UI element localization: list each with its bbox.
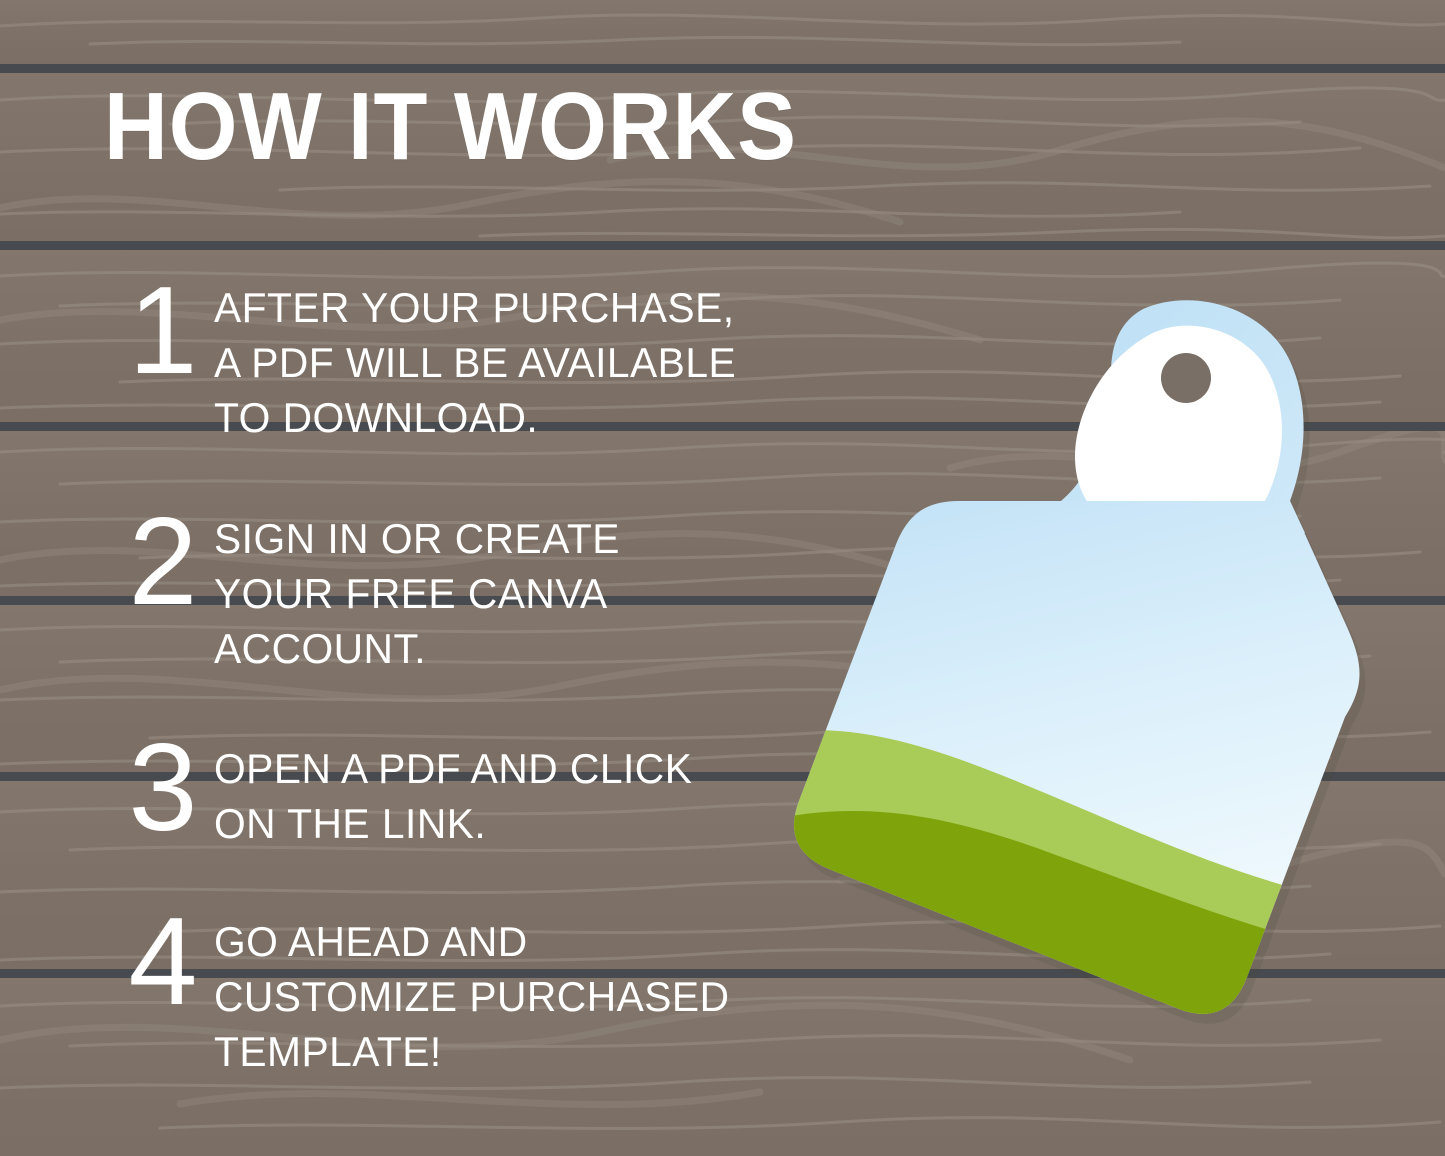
step-number-2: 2 — [110, 503, 214, 621]
step-text-4: GO AHEAD AND CUSTOMIZE PURCHASED TEMPLAT… — [214, 906, 730, 1079]
step-text-line: OPEN A PDF AND CLICK — [214, 741, 692, 796]
steps-list: 1 AFTER YOUR PURCHASE, A PDF WILL BE AVA… — [0, 0, 790, 1156]
step-text-1: AFTER YOUR PURCHASE, A PDF WILL BE AVAIL… — [214, 272, 736, 445]
step-text-line: ON THE LINK. — [214, 796, 692, 851]
step-text-line: GO AHEAD AND — [214, 914, 730, 969]
step-text-line: A PDF WILL BE AVAILABLE — [214, 335, 736, 390]
step-number-3: 3 — [110, 733, 214, 843]
step-text-line: CUSTOMIZE PURCHASED — [214, 969, 730, 1024]
step-text-line: ACCOUNT. — [214, 621, 620, 676]
step-text-line: SIGN IN OR CREATE — [214, 511, 620, 566]
step-text-line: AFTER YOUR PURCHASE, — [214, 280, 736, 335]
step-number-4: 4 — [110, 906, 214, 1018]
step-number-1: 1 — [110, 272, 214, 390]
step-text-2: SIGN IN OR CREATE YOUR FREE CANVA ACCOUN… — [214, 503, 620, 676]
list-item-step-4: 4 GO AHEAD AND CUSTOMIZE PURCHASED TEMPL… — [110, 906, 745, 1079]
ear-tag-svg — [745, 265, 1405, 1045]
step-text-3: OPEN A PDF AND CLICK ON THE LINK. — [214, 733, 692, 851]
step-text-line: TEMPLATE! — [214, 1024, 730, 1079]
step-text-line: YOUR FREE CANVA — [214, 566, 620, 621]
cattle-ear-tag-illustration — [745, 265, 1405, 1045]
list-item-step-1: 1 AFTER YOUR PURCHASE, A PDF WILL BE AVA… — [110, 272, 752, 445]
how-it-works-graphic: HOW IT WORKS 1 AFTER YOUR PURCHASE, A PD… — [0, 0, 1445, 1156]
list-item-step-2: 2 SIGN IN OR CREATE YOUR FREE CANVA ACCO… — [110, 503, 632, 676]
tag-hole-icon — [1161, 353, 1211, 403]
list-item-step-3: 3 OPEN A PDF AND CLICK ON THE LINK. — [110, 733, 707, 851]
step-text-line: TO DOWNLOAD. — [214, 390, 736, 445]
